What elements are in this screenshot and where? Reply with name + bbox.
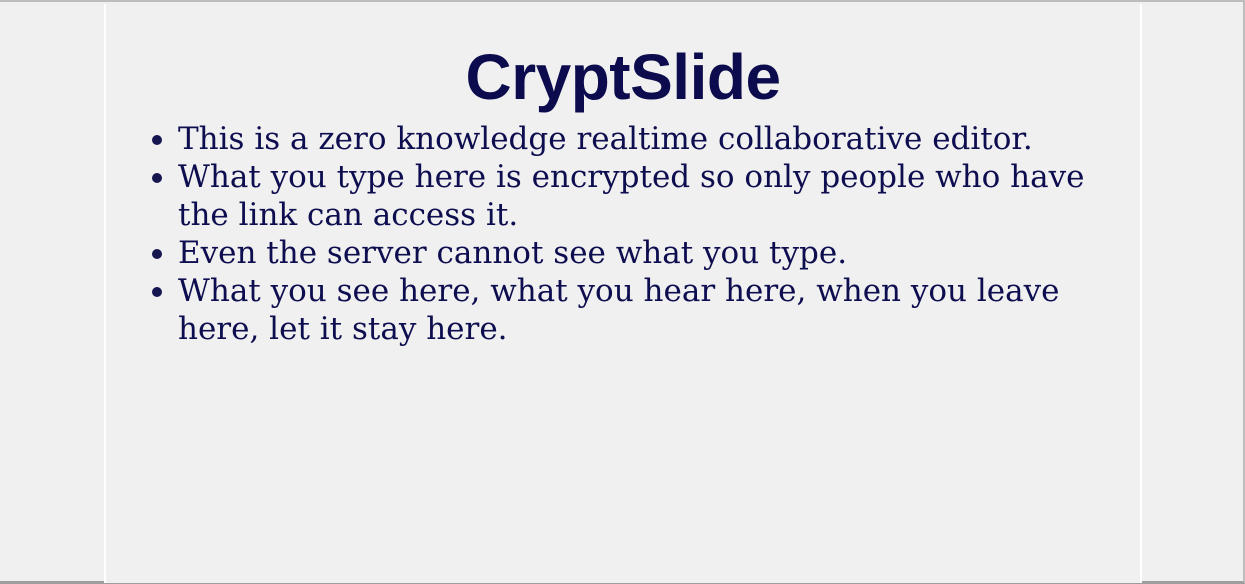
slide-content[interactable]: CryptSlide This is a zero knowledge real…: [106, 4, 1140, 579]
list-item[interactable]: Even the server cannot see what you type…: [106, 234, 1140, 272]
list-item-text: What you type here is encrypted so only …: [178, 158, 1140, 234]
disc-bullet-icon: [152, 173, 162, 183]
list-item[interactable]: What you type here is encrypted so only …: [106, 158, 1140, 234]
list-item-text: Even the server cannot see what you type…: [178, 234, 1140, 272]
list-item-text: What you see here, what you hear here, w…: [178, 272, 1140, 348]
disc-bullet-icon: [152, 287, 162, 297]
disc-bullet-icon: [152, 249, 162, 259]
list-item[interactable]: What you see here, what you hear here, w…: [106, 272, 1140, 348]
slide-title[interactable]: CryptSlide: [106, 42, 1140, 112]
list-item[interactable]: This is a zero knowledge realtime collab…: [106, 120, 1140, 158]
app-frame: CryptSlide This is a zero knowledge real…: [0, 0, 1245, 584]
list-item-text: This is a zero knowledge realtime collab…: [178, 120, 1140, 158]
slide-bullet-list[interactable]: This is a zero knowledge realtime collab…: [106, 120, 1140, 348]
slide-canvas[interactable]: CryptSlide This is a zero knowledge real…: [104, 4, 1142, 583]
disc-bullet-icon: [152, 135, 162, 145]
